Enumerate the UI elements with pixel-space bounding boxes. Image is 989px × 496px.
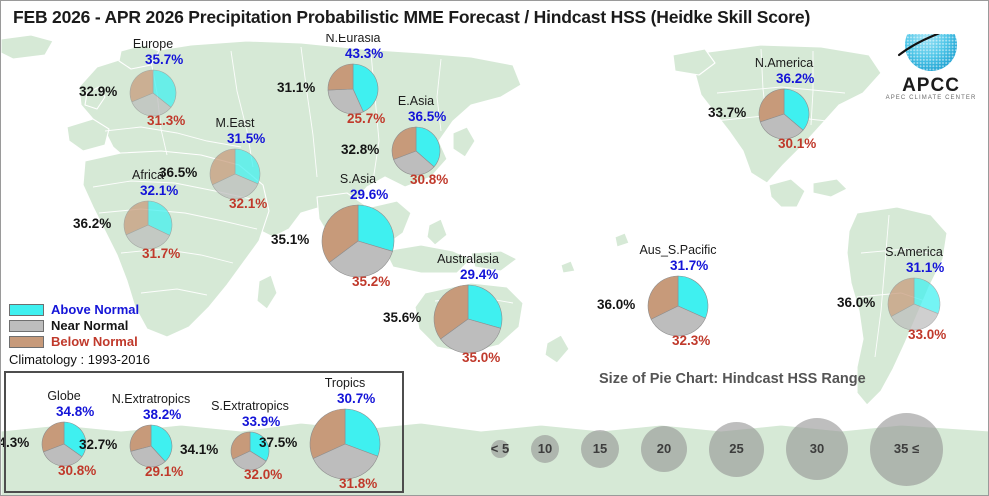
value-above-normal: 29.4% (460, 267, 498, 282)
size-scale-label: 20 (631, 441, 697, 456)
value-below-normal: 35.2% (352, 274, 390, 289)
region-marker-europe[interactable]: Europe35.7%32.9%31.3% (129, 69, 177, 117)
region-label: Australasia (408, 252, 528, 266)
region-marker-e-asia[interactable]: E.Asia36.5%32.8%30.8% (391, 126, 441, 176)
value-near-normal: 35.1% (271, 232, 309, 247)
pie-chart (887, 277, 941, 331)
value-above-normal: 32.1% (140, 183, 178, 198)
value-above-normal: 35.7% (145, 52, 183, 67)
region-marker-s-asia[interactable]: S.Asia29.6%35.1%35.2% (321, 204, 395, 278)
region-marker-m-east[interactable]: M.East31.5%36.5%32.1% (209, 148, 261, 200)
size-scale-label: 25 (699, 441, 774, 456)
region-marker-aus-s-pacific[interactable]: Aus_S.Pacific31.7%36.0%32.3% (647, 275, 709, 337)
region-label: Africa (88, 168, 208, 182)
legend-label-near: Near Normal (51, 318, 128, 333)
region-label: S.Asia (298, 172, 418, 186)
value-below-normal: 32.1% (229, 196, 267, 211)
value-below-normal: 25.7% (347, 111, 385, 126)
region-label: Aus_S.Pacific (618, 243, 738, 257)
pie-chart (758, 88, 810, 140)
region-marker-australasia[interactable]: Australasia29.4%35.6%35.0% (433, 284, 503, 354)
logo-subtitle: APEC CLIMATE CENTER (881, 95, 981, 101)
region-marker-n-america[interactable]: N.America36.2%33.7%30.1% (758, 88, 810, 140)
value-near-normal: 35.6% (383, 310, 421, 325)
value-above-normal: 31.7% (670, 258, 708, 273)
legend-swatch-above (9, 304, 44, 316)
legend-label-below: Below Normal (51, 334, 138, 349)
category-legend: Above Normal Near Normal Below Normal Cl… (9, 303, 150, 367)
pie-chart (321, 204, 395, 278)
value-below-normal: 30.1% (778, 136, 816, 151)
aggregate-panel (4, 371, 404, 493)
climatology-label: Climatology : 1993-2016 (9, 352, 150, 367)
pie-chart (129, 69, 177, 117)
value-above-normal: 43.3% (345, 46, 383, 61)
pie-chart (209, 148, 261, 200)
pie-chart (433, 284, 503, 354)
pie-chart (391, 126, 441, 176)
value-near-normal: 33.7% (708, 105, 746, 120)
region-marker-africa[interactable]: Africa32.1%36.2%31.7% (123, 200, 173, 250)
region-label: E.Asia (356, 94, 476, 108)
value-below-normal: 32.3% (672, 333, 710, 348)
value-near-normal: 36.0% (597, 297, 635, 312)
logo-wordmark: APCC (881, 75, 981, 97)
size-scale-label: 30 (776, 441, 858, 456)
value-near-normal: 32.9% (79, 84, 117, 99)
value-near-normal: 32.8% (341, 142, 379, 157)
region-label: S.America (854, 245, 974, 259)
region-label: N.America (724, 56, 844, 70)
value-below-normal: 33.0% (908, 327, 946, 342)
size-scale-label: 15 (571, 441, 629, 456)
value-near-normal: 31.1% (277, 80, 315, 95)
size-scale-label: < 5 (481, 441, 519, 456)
legend-row-below: Below Normal (9, 335, 150, 349)
legend-swatch-near (9, 320, 44, 332)
legend-swatch-below (9, 336, 44, 348)
title-bar: FEB 2026 - APR 2026 Precipitation Probab… (1, 1, 989, 34)
pie-size-scale: Size of Pie Chart: Hindcast HSS Range < … (481, 363, 986, 493)
page-title: FEB 2026 - APR 2026 Precipitation Probab… (13, 7, 810, 28)
value-above-normal: 29.6% (350, 187, 388, 202)
value-above-normal: 36.5% (408, 109, 446, 124)
legend-row-near: Near Normal (9, 319, 150, 333)
pie-chart (647, 275, 709, 337)
size-scale-label: 10 (521, 441, 569, 456)
region-label: M.East (175, 116, 295, 130)
legend-label-above: Above Normal (51, 302, 139, 317)
legend-row-above: Above Normal (9, 303, 150, 317)
pie-chart (123, 200, 173, 250)
size-scale-title: Size of Pie Chart: Hindcast HSS Range (599, 371, 866, 387)
size-scale-label: 35 ≤ (860, 441, 953, 456)
value-above-normal: 36.2% (776, 71, 814, 86)
value-below-normal: 31.7% (142, 246, 180, 261)
value-near-normal: 36.2% (73, 216, 111, 231)
value-above-normal: 31.5% (227, 131, 265, 146)
region-marker-s-america[interactable]: S.America31.1%36.0%33.0% (887, 277, 941, 331)
value-near-normal: 36.0% (837, 295, 875, 310)
region-label: Europe (93, 37, 213, 51)
value-above-normal: 31.1% (906, 260, 944, 275)
forecast-map-figure: FEB 2026 - APR 2026 Precipitation Probab… (0, 0, 989, 496)
